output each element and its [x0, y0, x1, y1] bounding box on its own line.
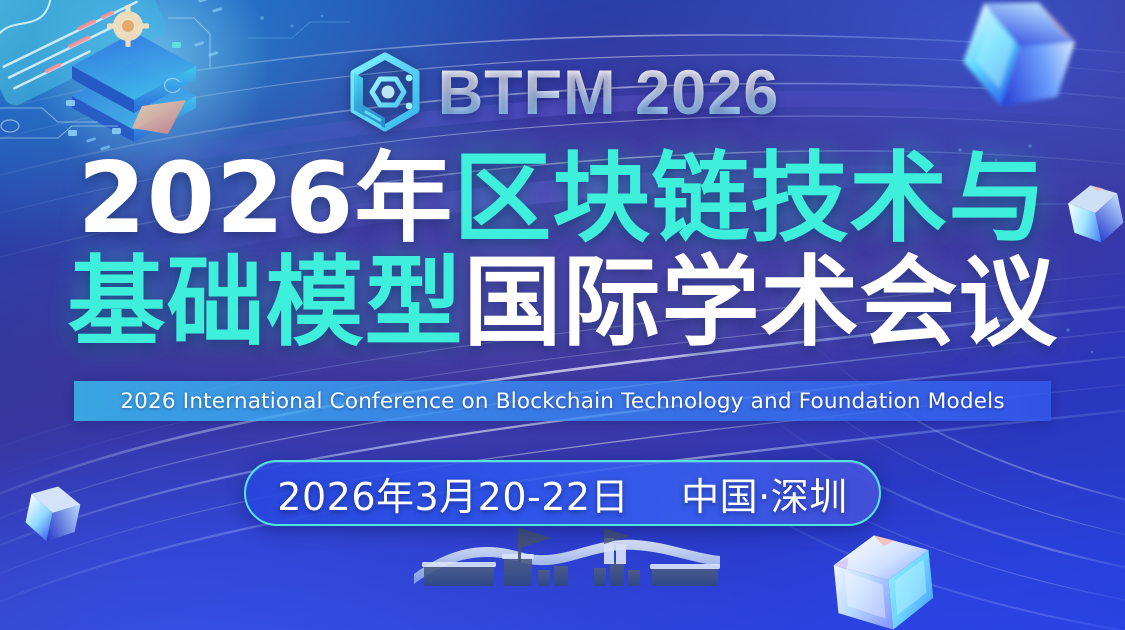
date-location-pill: 2026年3月20-22日 中国·深圳: [244, 460, 881, 526]
title-line2-cyan: 基础模型: [67, 246, 463, 360]
conference-banner: BTFM 2026 2026年区块链技术与 基础模型国际学术会议 2026 In…: [0, 0, 1125, 630]
small-crystal-cube: [18, 478, 88, 559]
conference-location: 中国·深圳: [681, 466, 848, 521]
large-prismatic-crystal-cube: [822, 518, 952, 630]
title-line1-cyan: 区块链技术与: [453, 142, 1047, 256]
brand-row: BTFM 2026: [0, 52, 1125, 134]
title-line1-white: 2026年: [78, 142, 454, 256]
brand-title: BTFM 2026: [438, 62, 780, 125]
title-line2-white: 国际学术会议: [464, 246, 1058, 360]
title-line-1: 2026年区块链技术与: [0, 148, 1125, 252]
subtitle-band: 2026 International Conference on Blockch…: [74, 381, 1051, 421]
subtitle-text: 2026 International Conference on Blockch…: [120, 389, 1004, 414]
page-title: 2026年区块链技术与 基础模型国际学术会议: [0, 148, 1125, 356]
hexagon-cube-blockchain-icon: [346, 52, 424, 134]
conference-date: 2026年3月20-22日: [277, 466, 629, 521]
shenzhen-skyline-silhouette: [408, 522, 728, 602]
title-line-2: 基础模型国际学术会议: [0, 252, 1125, 356]
